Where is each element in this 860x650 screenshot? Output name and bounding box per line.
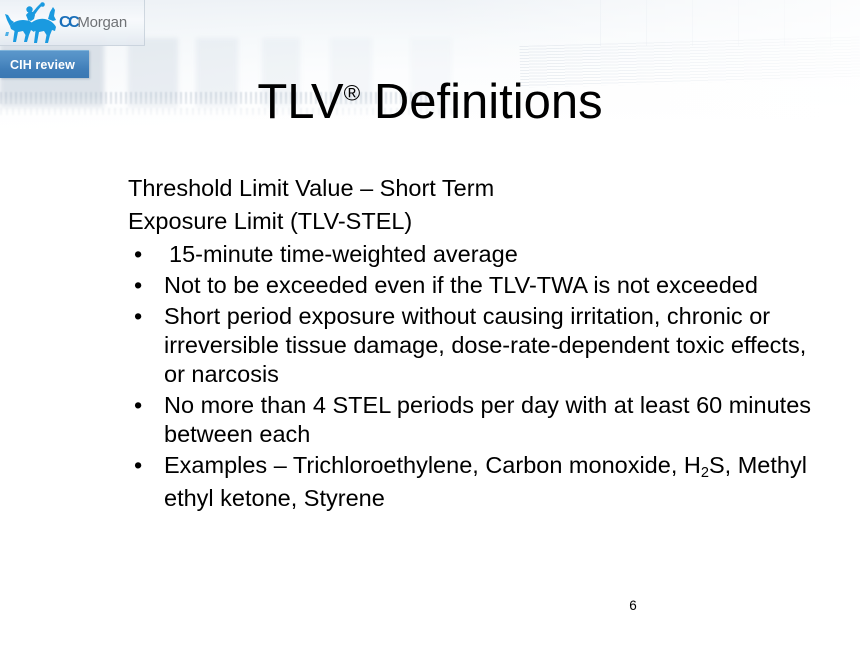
registered-trademark-icon: ® [344,81,361,106]
bullet-icon: • [134,240,142,269]
bullet-icon: • [134,451,142,480]
list-item-text: 15-minute time-weighted average [169,241,518,267]
list-item-text: Examples – Trichloroethylene, Carbon mon… [164,452,807,511]
list-item: • Examples – Trichloroethylene, Carbon m… [128,451,828,513]
brand-logo-text-cc: CC [59,14,77,31]
bullet-list: • 15-minute time-weighted average • Not … [128,240,828,513]
slide: CCMorgan CIH review TLV® Definitions Thr… [0,0,860,650]
bullet-icon: • [134,271,142,300]
brand-logo-text-morgan: Morgan [77,14,127,31]
lead-line-2: Exposure Limit (TLV-STEL) [128,205,828,238]
list-item: • 15-minute time-weighted average [128,240,828,269]
cih-review-tab[interactable]: CIH review [0,50,89,78]
cih-review-tab-label: CIH review [0,58,75,72]
bullet-icon: • [134,391,142,420]
page-title-main: TLV [257,75,343,129]
page-title-suffix: Definitions [360,75,602,129]
list-item: • Short period exposure without causing … [128,302,828,389]
list-item: • Not to be exceeded even if the TLV-TWA… [128,271,828,300]
list-item-text: Not to be exceeded even if the TLV-TWA i… [164,272,758,298]
slide-body: Threshold Limit Value – Short Term Expos… [128,172,828,513]
list-item-text: No more than 4 STEL periods per day with… [164,392,811,447]
brand-logo-text: CCMorgan [59,15,127,31]
brand-logo: CCMorgan [0,0,145,46]
page-number: 6 [203,598,860,613]
page-title: TLV® Definitions [0,77,860,128]
lead-line-1: Threshold Limit Value – Short Term [128,172,828,205]
equestrian-rider-logo-icon [4,2,58,44]
bullet-icon: • [134,302,142,331]
list-item: • No more than 4 STEL periods per day wi… [128,391,828,449]
list-item-text: Short period exposure without causing ir… [164,303,806,387]
